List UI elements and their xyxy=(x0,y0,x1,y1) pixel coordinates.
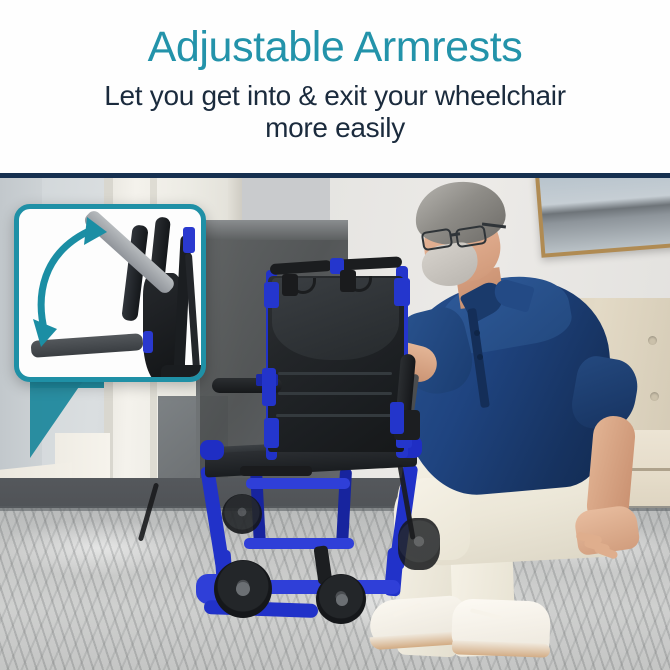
rear-wheel-hub xyxy=(236,582,250,596)
seat-back-seam xyxy=(278,392,392,395)
armrest-left-mount xyxy=(262,368,276,406)
armrest-right-clamp xyxy=(390,402,404,434)
subtitle-line-1: Let you get into & exit your wheelchair xyxy=(104,80,565,111)
rear-wheel-far xyxy=(222,494,262,534)
post-clamp-right-top xyxy=(394,278,410,306)
rotation-arrow-icon xyxy=(27,215,149,363)
brake-housing-left xyxy=(282,274,298,296)
seat-back-seam xyxy=(278,372,392,375)
seat-bar xyxy=(240,466,312,476)
lifestyle-photo xyxy=(0,178,670,670)
text-banner: Adjustable Armrests Let you get into & e… xyxy=(0,0,670,175)
page-subtitle: Let you get into & exit your wheelchair … xyxy=(0,80,670,144)
seat-back-seam xyxy=(276,414,394,417)
rear-wheel-right xyxy=(398,518,440,570)
post-clamp-left-bottom xyxy=(264,418,279,448)
push-handle-right[interactable] xyxy=(338,256,402,270)
brake-cable-left xyxy=(138,482,159,541)
post-clamp-left-top xyxy=(264,282,279,308)
armrest-rotation-inset xyxy=(14,204,206,382)
subtitle-line-2: more easily xyxy=(0,112,670,144)
frame-crossbar-lower xyxy=(244,538,354,549)
page-title: Adjustable Armrests xyxy=(0,22,670,72)
front-caster-hub xyxy=(336,594,348,606)
frame-crossbar-upper xyxy=(246,478,350,489)
brake-housing-right xyxy=(340,270,356,292)
seat-rail-left xyxy=(200,440,224,460)
product-feature-card: Adjustable Armrests Let you get into & e… xyxy=(0,0,670,670)
push-handle-left[interactable] xyxy=(270,260,333,275)
inset-blue-clamp-top xyxy=(183,227,195,253)
